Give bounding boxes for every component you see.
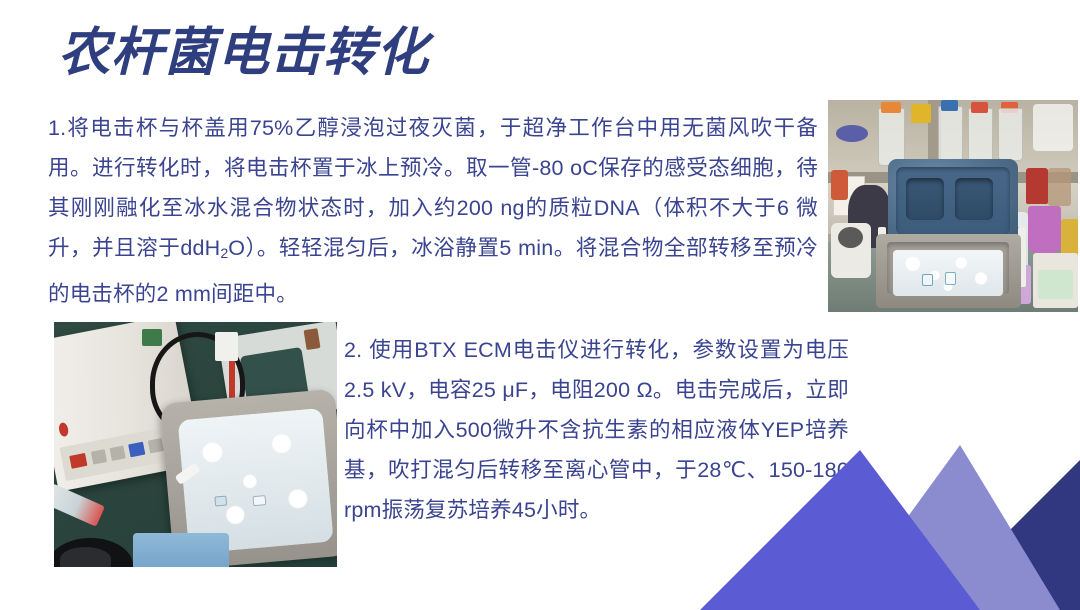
paragraph-step-1: 1.将电击杯与杯盖用75%乙醇浸泡过夜灭菌，于超净工作台中用无菌风吹干备用。进行… xyxy=(48,108,818,314)
bottle-cap xyxy=(941,100,959,111)
cooler-lid-inner xyxy=(896,167,1010,235)
pulse-button[interactable] xyxy=(128,442,144,457)
reagent-bottle xyxy=(938,106,963,165)
brown-bottle xyxy=(1048,168,1071,206)
slide-canvas: 农杆菌电击转化 1.将电击杯与杯盖用75%乙醇浸泡过夜灭菌，于超净工作台中用无菌… xyxy=(0,0,1080,610)
green-label xyxy=(1038,270,1073,300)
white-connector xyxy=(215,332,238,361)
bottle-cap xyxy=(881,102,901,113)
blue-foam xyxy=(133,533,229,567)
bottle-cap xyxy=(971,102,989,113)
blue-tube-cap xyxy=(214,495,227,506)
panel-button[interactable] xyxy=(90,449,106,464)
sample-tube xyxy=(945,272,956,285)
plastic-bag xyxy=(1033,104,1073,151)
reagent-bottle xyxy=(878,108,905,165)
dark-equipment-inner xyxy=(60,547,111,567)
yellow-rack xyxy=(911,104,931,123)
cooler-lid-well-right xyxy=(955,178,993,220)
photo-electroporator-scene xyxy=(54,322,337,567)
power-button[interactable] xyxy=(69,453,88,469)
indicator-light xyxy=(57,422,68,437)
panel-button[interactable] xyxy=(147,438,163,453)
reagent-bottle xyxy=(998,108,1023,161)
cooler-base xyxy=(876,234,1021,308)
photo-ice-cooler-scene xyxy=(828,100,1078,312)
green-connector xyxy=(142,329,162,346)
panel-button[interactable] xyxy=(109,446,125,461)
photo-electroporator xyxy=(54,322,337,567)
holder-clip xyxy=(303,329,320,350)
cooler-lid-well-left xyxy=(906,178,944,220)
ice-box-ice xyxy=(178,408,335,553)
cooler-lid xyxy=(888,159,1018,244)
purple-beaker xyxy=(1028,206,1061,253)
sample-tube xyxy=(253,495,266,506)
decorative-triangle-mid xyxy=(700,450,980,610)
page-title: 农杆菌电击转化 xyxy=(58,24,429,84)
reagent-bottle xyxy=(968,108,993,165)
photo-ice-cooler xyxy=(828,100,1078,312)
sample-tube xyxy=(922,274,933,286)
red-cap-bottle xyxy=(1026,168,1049,204)
orange-bottle xyxy=(831,170,849,200)
